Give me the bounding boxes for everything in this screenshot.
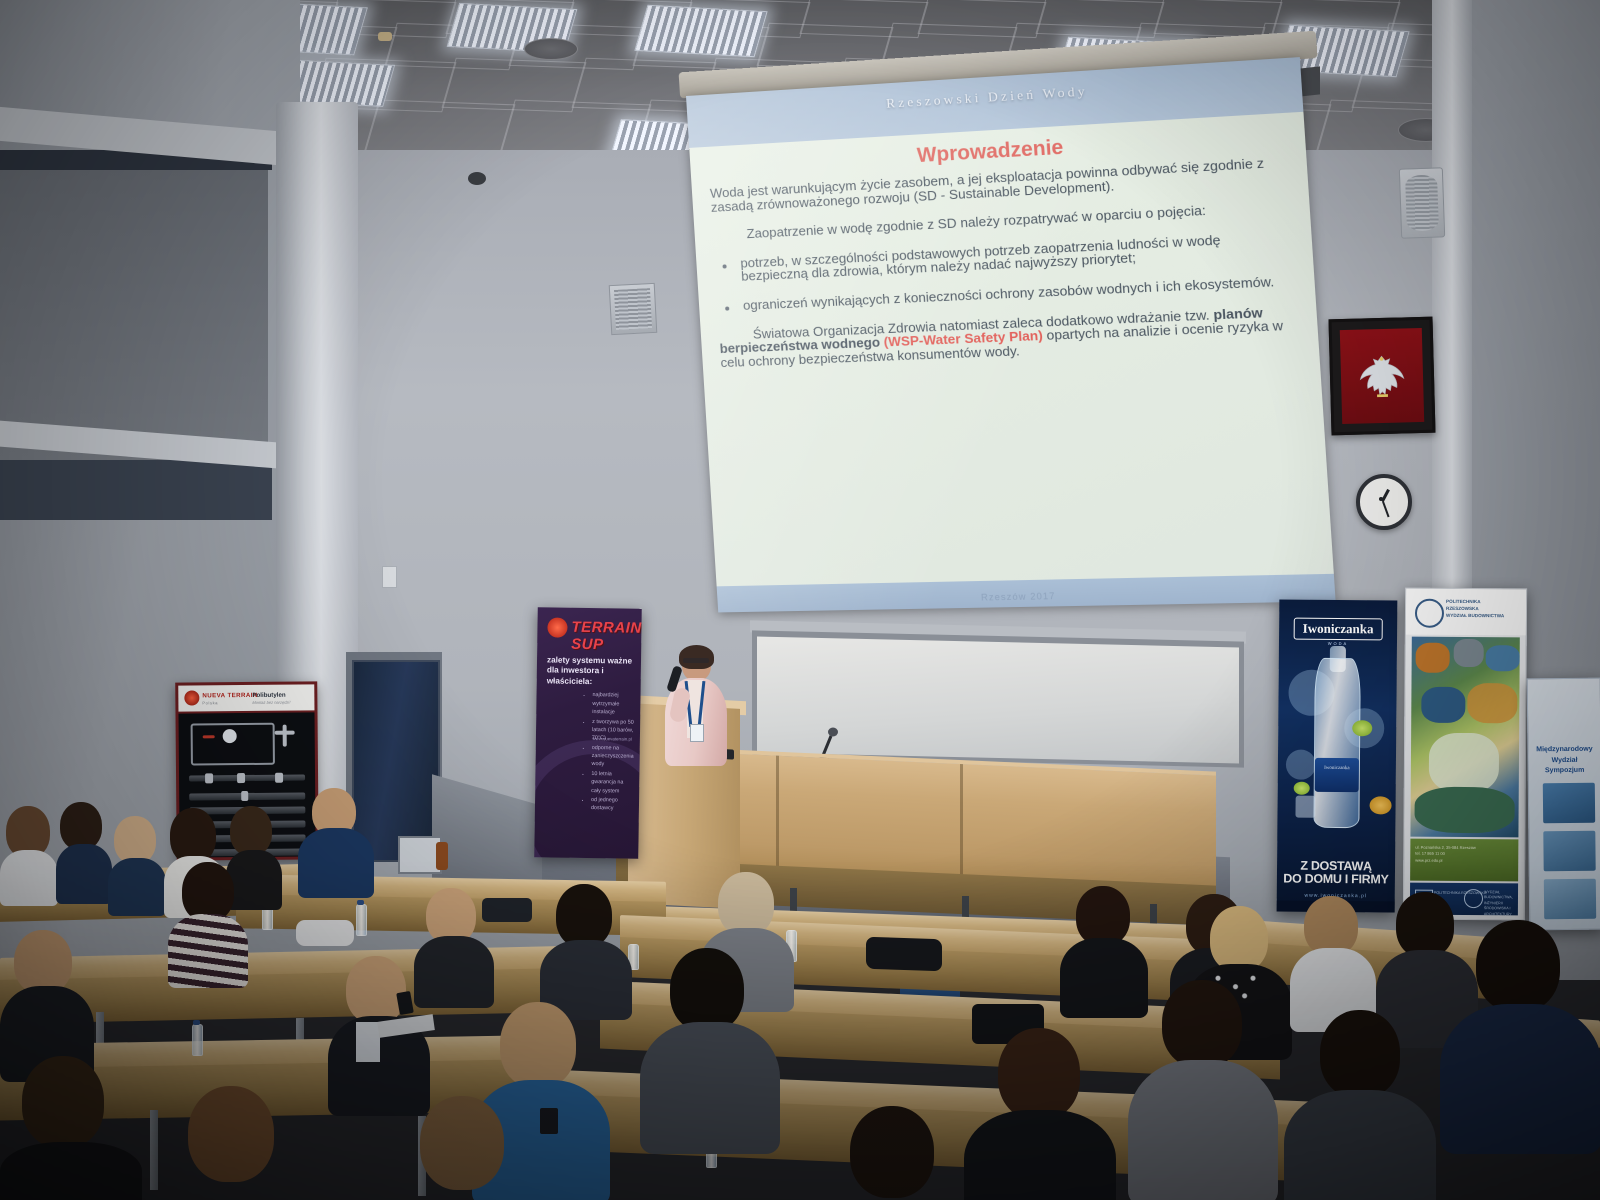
audience-member xyxy=(1128,980,1276,1200)
iwoniczanka-tagline-2: DO DOMU I FIRMY xyxy=(1277,872,1395,886)
presenter-glasses xyxy=(683,658,709,663)
presenter-hair xyxy=(679,645,714,669)
university-seal-icon xyxy=(1415,599,1444,628)
iwoniczanka-wordmark: Iwoniczanka xyxy=(1294,618,1383,641)
banner-iwoniczanka: Iwoniczanka WODA Iwoniczanka Z DOSTAWĄ D… xyxy=(1277,599,1398,912)
symposium-photo xyxy=(1543,783,1595,824)
terrain-point: 10 letnia gwarancja na cały system xyxy=(591,770,633,796)
symposium-title-2: Wydział xyxy=(1528,755,1600,766)
wall-clock xyxy=(1356,474,1412,530)
audience-member xyxy=(160,1086,310,1200)
terrain-website: www.nuevaterrain.pl xyxy=(592,736,632,742)
display-board-brand-2: Polibutylen xyxy=(252,692,285,699)
slide-paragraph-3: Światowa Organizacja Zdrowia natomiast z… xyxy=(718,304,1303,370)
audience-member xyxy=(1290,896,1374,1026)
lecture-hall-screenshot: M Rzeszowski Dzień Wody Wprowadzenie Wod… xyxy=(0,0,1600,1200)
ceiling-light-panel xyxy=(634,5,767,57)
terrain-point: odporne na zanieczyszczenia wody xyxy=(592,744,634,770)
audience-member xyxy=(1284,1010,1434,1200)
water-bottle xyxy=(192,1024,203,1056)
audience-member xyxy=(0,806,58,902)
audience-member xyxy=(168,862,246,982)
politechnika-photo-collage xyxy=(1410,637,1519,838)
water-bottle xyxy=(1313,658,1360,828)
left-wall-dark-band xyxy=(0,460,272,520)
lemon-slice-icon xyxy=(1369,796,1391,814)
display-board-brand-2-sub: Montaż bez narzędzi! xyxy=(252,700,290,705)
audience-member xyxy=(1440,920,1600,1150)
terrain-points: najbardziej wytrzymałe instalacje z twor… xyxy=(551,691,635,814)
terrain-brand: TERRAIN SUP xyxy=(571,619,642,654)
bench-leg xyxy=(150,1110,158,1190)
symposium-title-1: Międzynarodowy xyxy=(1528,745,1600,756)
eagle-icon xyxy=(1352,348,1411,407)
presenter-badge xyxy=(690,724,704,742)
lime-slice-icon xyxy=(1294,782,1310,795)
water-bottle xyxy=(356,904,367,936)
structural-column-right xyxy=(1432,0,1472,600)
nueva-terrain-logo-icon xyxy=(184,690,199,705)
bottle-label: Iwoniczanka xyxy=(1315,758,1359,792)
projection-screen: Rzeszowski Dzień Wody Wprowadzenie Woda … xyxy=(686,57,1336,612)
banner-terrain-sup: TERRAIN SUP zalety systemu ważne dla inw… xyxy=(534,607,641,858)
politechnika-contact: ul. Poznańska 2, 35-084 Rzeszów tel. 17 … xyxy=(1415,845,1476,865)
terrain-headline: zalety systemu ważne dla inwestora i wła… xyxy=(547,655,633,687)
display-board-brand-1-sub: Polska xyxy=(202,700,218,705)
terrain-point: najbardziej wytrzymałe instalacje xyxy=(592,691,634,717)
wall-speaker-right xyxy=(1399,167,1445,238)
display-board-brand-1: NUEVA TERRAIN xyxy=(202,692,257,699)
politechnika-web: www.prz.edu.pl xyxy=(1415,857,1476,864)
audience-member xyxy=(964,1028,1114,1200)
lime-slice-icon xyxy=(1352,720,1372,736)
smartphone xyxy=(540,1108,558,1134)
banner-politechnika: POLITECHNIKA RZESZOWSKA WYDZIAŁ BUDOWNIC… xyxy=(1403,588,1527,921)
bottle-cap xyxy=(357,900,364,905)
symposium-photo xyxy=(1544,879,1596,920)
security-camera xyxy=(468,172,486,185)
light-switch[interactable] xyxy=(382,566,397,588)
projection-screen-assembly: Rzeszowski Dzień Wody Wprowadzenie Woda … xyxy=(686,57,1337,634)
symposium-title-3: Sympozjum xyxy=(1529,766,1600,777)
coat-of-arms-frame xyxy=(1328,317,1435,436)
audience-member xyxy=(540,884,630,1014)
terrain-logo-icon xyxy=(547,617,567,637)
politechnika-org: POLITECHNIKA RZESZOWSKA WYDZIAŁ BUDOWNIC… xyxy=(1446,599,1520,620)
symposium-title: Międzynarodowy Wydział Sympozjum xyxy=(1528,745,1600,777)
wall-speaker-left xyxy=(609,283,658,335)
audience-member xyxy=(640,948,776,1148)
terrain-point: od jednego dostawcy xyxy=(591,796,633,813)
politechnika-blue-2: WYDZIAŁ BUDOWNICTWA, INŻYNIERII ŚRODOWIS… xyxy=(1484,890,1526,917)
audience-member xyxy=(0,1056,140,1200)
ceiling-sprinkler xyxy=(378,32,392,41)
bottle-label-text: Iwoniczanka xyxy=(1315,766,1359,771)
audience-member xyxy=(56,802,110,902)
audience-member xyxy=(826,1106,966,1200)
politechnika-org-3: WYDZIAŁ BUDOWNICTWA xyxy=(1446,613,1520,620)
audience-member xyxy=(390,1096,540,1200)
display-board-header: NUEVA TERRAIN Polska Polibutylen Montaż … xyxy=(178,684,314,711)
white-jacket xyxy=(296,920,354,946)
politechnika-header: POLITECHNIKA RZESZOWSKA WYDZIAŁ BUDOWNIC… xyxy=(1406,589,1526,636)
symposium-photo xyxy=(1543,831,1595,872)
audience-member xyxy=(298,788,372,896)
bottle-amber xyxy=(436,842,448,870)
politechnika-contact-band: ul. Poznańska 2, 35-084 Rzeszów tel. 17 … xyxy=(1410,839,1518,882)
audience-member xyxy=(108,816,164,912)
banner-symposium: Międzynarodowy Wydział Sympozjum xyxy=(1527,678,1600,931)
laptop-bag xyxy=(866,937,942,972)
presenter xyxy=(660,648,730,766)
bottle-cap xyxy=(193,1020,200,1025)
ceiling-vent xyxy=(524,38,578,60)
iwoniczanka-tagline: Z DOSTAWĄ DO DOMU I FIRMY xyxy=(1277,859,1395,886)
